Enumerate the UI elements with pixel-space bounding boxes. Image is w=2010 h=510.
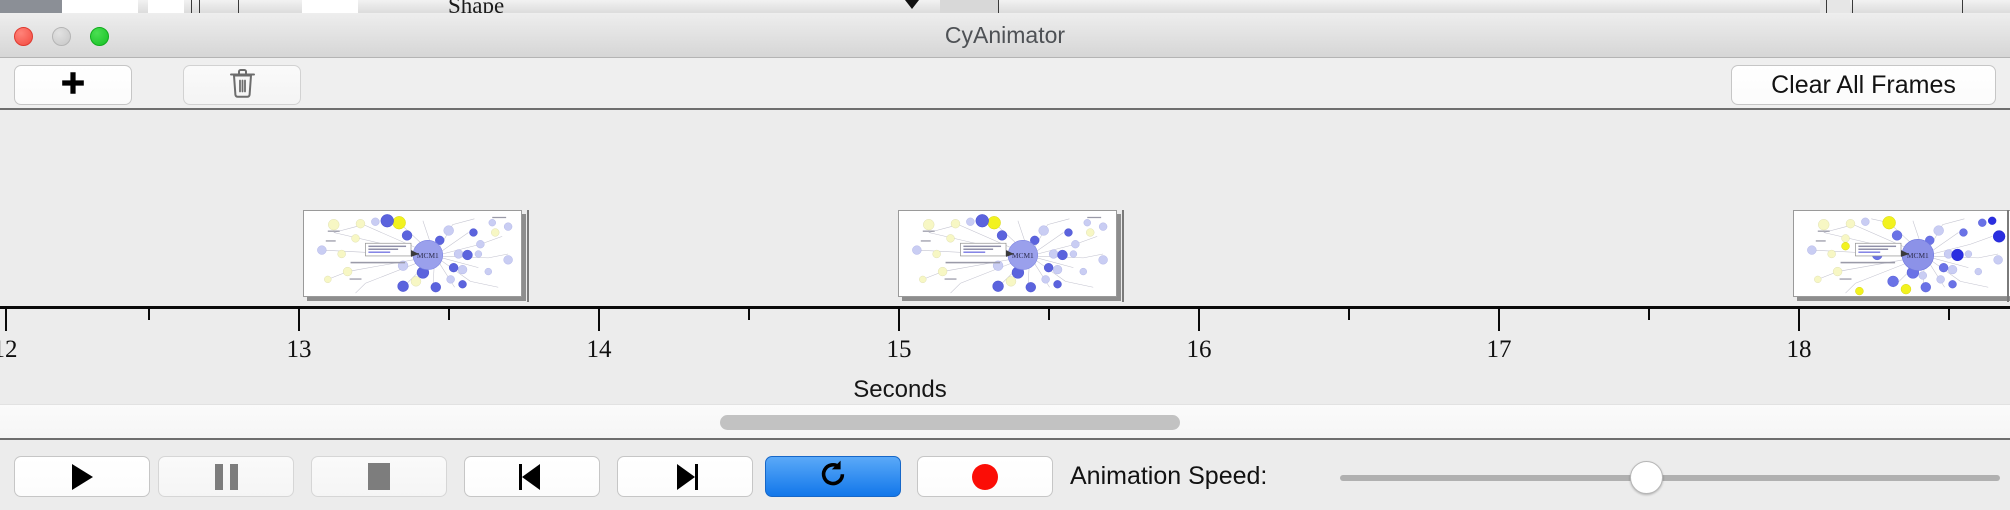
timeline-ruler[interactable]: 12 13 14 15 16 17 18 Seconds: [0, 306, 2010, 404]
timeline-track[interactable]: MCM1: [0, 110, 2010, 306]
delete-frame-button[interactable]: [183, 65, 301, 105]
timeline-frame-thumbnail[interactable]: MCM1: [1793, 210, 2010, 297]
ruler-tick-minor: [1348, 309, 1350, 320]
ruler-baseline: [0, 306, 2010, 309]
plus-icon: [60, 68, 86, 102]
svg-text:MCM1: MCM1: [417, 251, 439, 260]
play-button[interactable]: [14, 456, 150, 497]
skip-back-icon: [519, 464, 545, 490]
pause-button[interactable]: [158, 456, 294, 497]
bg-divider: [191, 0, 192, 13]
ruler-tick-minor: [448, 309, 450, 320]
frame-time-marker: [2007, 210, 2009, 302]
animation-speed-slider[interactable]: [1340, 475, 2000, 481]
ruler-tick-major: [898, 309, 900, 331]
ruler-tick-minor: [1948, 309, 1950, 320]
network-thumbnail-graphic: MCM1: [899, 211, 1116, 296]
bg-divider: [199, 0, 200, 13]
ruler-label: 12: [0, 336, 18, 364]
play-icon: [72, 464, 93, 490]
clear-all-frames-button[interactable]: Clear All Frames: [1731, 65, 1996, 105]
ruler-label: 15: [887, 336, 912, 364]
playback-toolbar: Animation Speed:: [0, 442, 2010, 510]
ruler-tick-minor: [148, 309, 150, 320]
ruler-tick-major: [1198, 309, 1200, 331]
next-frame-button[interactable]: [617, 456, 753, 497]
slider-thumb[interactable]: [1630, 461, 1663, 494]
bg-segment: [940, 0, 998, 13]
svg-text:MCM1: MCM1: [1012, 251, 1034, 260]
bg-shape-label: Shape: [448, 0, 504, 13]
slider-track: [1340, 475, 2000, 481]
timeline-frame-thumbnail[interactable]: MCM1: [303, 210, 522, 297]
bg-divider: [1852, 0, 1853, 13]
ruler-tick-minor: [1048, 309, 1050, 320]
trash-icon: [229, 68, 256, 103]
axis-title-label: Seconds: [853, 376, 946, 403]
svg-text:MCM1: MCM1: [1907, 251, 1929, 260]
frame-time-marker: [1122, 210, 1124, 302]
ruler-tick-major: [1798, 309, 1800, 331]
bg-divider: [998, 0, 999, 13]
loop-icon: [818, 459, 848, 494]
ruler-tick-major: [1498, 309, 1500, 331]
bg-divider: [238, 0, 239, 13]
animation-speed-label: Animation Speed:: [1070, 456, 1267, 497]
ruler-tick-major: [598, 309, 600, 331]
bg-divider: [1962, 0, 1963, 13]
bg-divider: [1826, 0, 1827, 13]
bg-segment: [302, 0, 358, 13]
bg-segment: [1820, 0, 1850, 13]
ruler-tick-minor: [1648, 309, 1650, 320]
bg-segment: [148, 0, 184, 13]
ruler-label: 18: [1787, 336, 1812, 364]
ruler-label: 17: [1487, 336, 1512, 364]
ruler-label: 13: [287, 336, 312, 364]
add-frame-button[interactable]: [14, 65, 132, 105]
previous-frame-button[interactable]: [464, 456, 600, 497]
axis-title: Seconds: [0, 376, 2010, 404]
bg-segment: [0, 0, 62, 13]
background-window-strip: Shape: [0, 0, 2010, 13]
stop-button[interactable]: [311, 456, 447, 497]
timeline-horizontal-scrollbar[interactable]: [0, 404, 2010, 440]
timeline-frame-thumbnail[interactable]: MCM1: [898, 210, 1117, 297]
record-icon: [972, 464, 998, 490]
ruler-label: 16: [1187, 336, 1212, 364]
window-title: CyAnimator: [0, 13, 2010, 58]
network-thumbnail-graphic: MCM1: [304, 211, 521, 296]
network-thumbnail-graphic: MCM1: [1794, 211, 2010, 296]
stop-icon: [368, 463, 390, 490]
ruler-tick-major: [5, 309, 7, 331]
frame-time-marker: [527, 210, 529, 302]
ruler-tick-minor: [748, 309, 750, 320]
loop-toggle-button[interactable]: [765, 456, 901, 497]
toolbar: Clear All Frames: [0, 58, 2010, 110]
clear-all-frames-label: Clear All Frames: [1771, 71, 1956, 100]
scrollbar-thumb[interactable]: [720, 415, 1180, 430]
ruler-label: 14: [587, 336, 612, 364]
bg-segment: [62, 0, 138, 13]
record-button[interactable]: [917, 456, 1053, 497]
ruler-tick-major: [298, 309, 300, 331]
skip-forward-icon: [672, 464, 698, 490]
pause-icon: [215, 464, 238, 490]
title-bar: CyAnimator: [0, 13, 2010, 58]
bg-caret-icon: [905, 0, 919, 9]
